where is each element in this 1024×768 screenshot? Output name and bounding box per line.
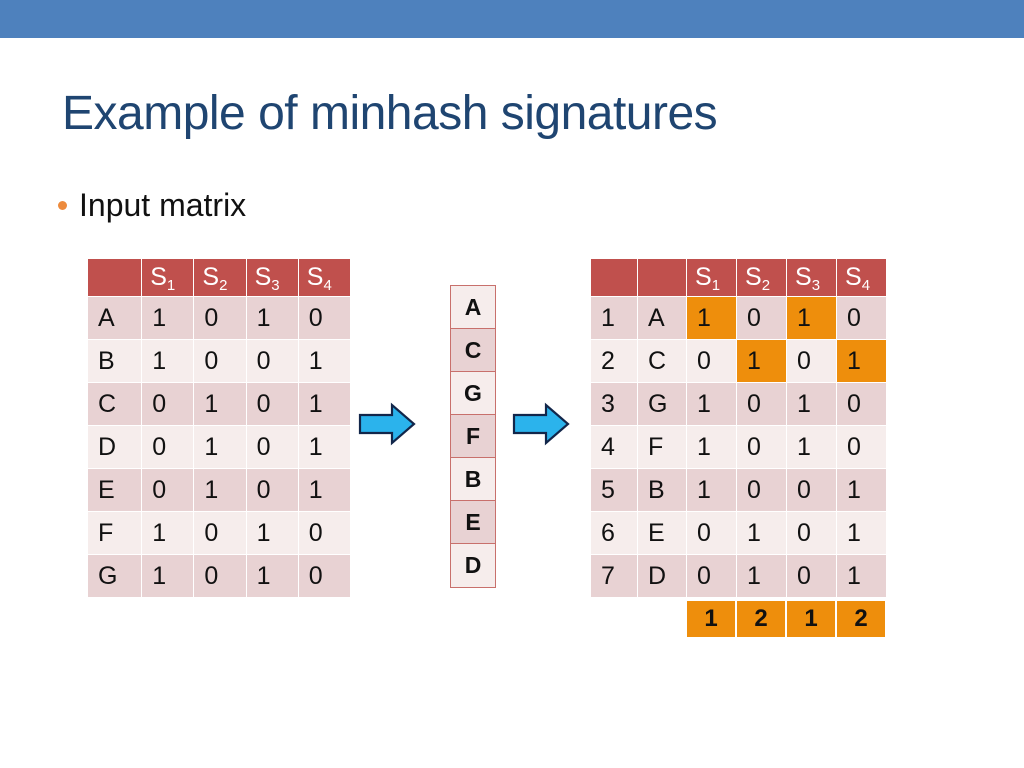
permutation-column: ACGFBED — [450, 285, 496, 588]
permuted-matrix-cell: 0 — [687, 555, 737, 598]
input-matrix-cell: 0 — [246, 469, 298, 512]
input-matrix-cell: 1 — [142, 555, 194, 598]
input-matrix-row-label: A — [88, 297, 142, 340]
permuted-matrix-table: S1S2S3S4 1A10102C01013G10104F10105B10016… — [590, 258, 887, 598]
permuted-matrix-row-label: F — [638, 426, 687, 469]
input-matrix-cell: 0 — [298, 297, 350, 340]
permutation-cell: D — [451, 544, 495, 587]
input-matrix-col-header-3: S3 — [246, 259, 298, 297]
input-matrix-cell: 1 — [298, 340, 350, 383]
permuted-matrix-col-header-3: S3 — [787, 259, 837, 297]
permuted-matrix-cell: 0 — [837, 426, 887, 469]
signature-cell: 1 — [686, 600, 736, 638]
input-matrix-cell: 1 — [194, 383, 246, 426]
input-matrix-cell: 0 — [246, 426, 298, 469]
table-row: E0101 — [88, 469, 351, 512]
table-row: 2C0101 — [591, 340, 887, 383]
permuted-matrix-col-header-2: S2 — [737, 259, 787, 297]
input-matrix-table: S1S2S3S4 A1010B1001C0101D0101E0101F1010G… — [87, 258, 351, 598]
input-matrix-cell: 1 — [194, 426, 246, 469]
permuted-matrix-cell: 1 — [687, 426, 737, 469]
signature-cell: 2 — [736, 600, 786, 638]
input-matrix-cell: 0 — [298, 512, 350, 555]
input-matrix-cell: 1 — [298, 426, 350, 469]
permuted-matrix-cell: 0 — [787, 340, 837, 383]
permutation-cell: E — [451, 501, 495, 544]
input-matrix-col-header-4: S4 — [298, 259, 350, 297]
permutation-cell: F — [451, 415, 495, 458]
input-matrix-corner-cell — [88, 259, 142, 297]
permuted-matrix-row-index: 4 — [591, 426, 638, 469]
bullet-label: Input matrix — [79, 186, 246, 224]
input-matrix-row-label: B — [88, 340, 142, 383]
input-matrix-cell: 1 — [298, 469, 350, 512]
permuted-matrix-row-index: 5 — [591, 469, 638, 512]
input-matrix-col-header-2: S2 — [194, 259, 246, 297]
permuted-matrix-cell: 1 — [687, 383, 737, 426]
bullet-input-matrix: Input matrix — [58, 186, 246, 224]
permuted-matrix-col-header-4: S4 — [837, 259, 887, 297]
permuted-matrix-cell: 0 — [837, 297, 887, 340]
permuted-matrix-row-label: D — [638, 555, 687, 598]
permuted-matrix-cell: 1 — [787, 383, 837, 426]
permuted-matrix-cell: 0 — [737, 383, 787, 426]
table-row: 6E0101 — [591, 512, 887, 555]
permuted-matrix-row-index: 6 — [591, 512, 638, 555]
input-matrix-cell: 1 — [298, 383, 350, 426]
table-row: 4F1010 — [591, 426, 887, 469]
permuted-matrix-cell: 0 — [687, 512, 737, 555]
table-row: G1010 — [88, 555, 351, 598]
permuted-matrix-cell-highlighted: 1 — [737, 340, 787, 383]
input-matrix-cell: 0 — [194, 340, 246, 383]
table-row: B1001 — [88, 340, 351, 383]
input-matrix-col-header-1: S1 — [142, 259, 194, 297]
permuted-matrix-row-index: 1 — [591, 297, 638, 340]
input-matrix-cell: 0 — [142, 383, 194, 426]
input-matrix-row-label: D — [88, 426, 142, 469]
permuted-matrix-cell: 1 — [687, 469, 737, 512]
permuted-matrix-corner-cell-label — [638, 259, 687, 297]
permuted-matrix-cell: 0 — [737, 297, 787, 340]
permuted-matrix-cell: 0 — [687, 340, 737, 383]
input-matrix-cell: 1 — [142, 297, 194, 340]
permuted-matrix-row-index: 3 — [591, 383, 638, 426]
input-matrix-header-row: S1S2S3S4 — [88, 259, 351, 297]
permuted-matrix-cell: 0 — [837, 383, 887, 426]
permuted-matrix-cell: 0 — [737, 426, 787, 469]
permuted-matrix-cell-highlighted: 1 — [787, 297, 837, 340]
input-matrix-cell: 0 — [142, 426, 194, 469]
permuted-matrix-row-index: 7 — [591, 555, 638, 598]
permuted-matrix-row-label: A — [638, 297, 687, 340]
input-matrix-cell: 0 — [194, 555, 246, 598]
input-matrix-cell: 1 — [246, 555, 298, 598]
bullet-dot-icon — [58, 201, 67, 210]
table-row: 1A1010 — [591, 297, 887, 340]
permutation-cell: G — [451, 372, 495, 415]
input-matrix-cell: 0 — [298, 555, 350, 598]
table-row: D0101 — [88, 426, 351, 469]
signature-cell: 2 — [836, 600, 886, 638]
permuted-matrix-cell-highlighted: 1 — [687, 297, 737, 340]
table-row: F1010 — [88, 512, 351, 555]
permuted-matrix-cell: 1 — [737, 512, 787, 555]
input-matrix-cell: 0 — [142, 469, 194, 512]
permuted-matrix-corner-cell-index — [591, 259, 638, 297]
arrow-right-icon-2 — [512, 402, 570, 446]
input-matrix-cell: 1 — [142, 340, 194, 383]
input-matrix-cell: 0 — [194, 512, 246, 555]
input-matrix-row-label: F — [88, 512, 142, 555]
permuted-matrix-row-index: 2 — [591, 340, 638, 383]
permuted-matrix-col-header-1: S1 — [687, 259, 737, 297]
table-row: 7D0101 — [591, 555, 887, 598]
input-matrix-row-label: C — [88, 383, 142, 426]
input-matrix-cell: 1 — [246, 297, 298, 340]
input-matrix-cell: 0 — [246, 383, 298, 426]
permuted-matrix-cell: 0 — [787, 555, 837, 598]
permutation-cell: C — [451, 329, 495, 372]
permuted-matrix-row-label: B — [638, 469, 687, 512]
page-title: Example of minhash signatures — [62, 86, 717, 142]
input-matrix-cell: 0 — [246, 340, 298, 383]
input-matrix-cell: 1 — [194, 469, 246, 512]
input-matrix-cell: 1 — [142, 512, 194, 555]
permuted-matrix-cell: 1 — [737, 555, 787, 598]
permuted-matrix-header-row: S1S2S3S4 — [591, 259, 887, 297]
input-matrix-row-label: E — [88, 469, 142, 512]
permuted-matrix-cell: 0 — [787, 512, 837, 555]
arrow-right-icon-1 — [358, 402, 416, 446]
permuted-matrix-row-label: G — [638, 383, 687, 426]
permuted-matrix-cell: 1 — [787, 426, 837, 469]
table-row: 5B1001 — [591, 469, 887, 512]
table-row: A1010 — [88, 297, 351, 340]
permuted-matrix-cell: 1 — [837, 512, 887, 555]
permuted-matrix-row-label: C — [638, 340, 687, 383]
table-row: 3G1010 — [591, 383, 887, 426]
permuted-matrix-row-label: E — [638, 512, 687, 555]
input-matrix-cell: 1 — [246, 512, 298, 555]
table-row: C0101 — [88, 383, 351, 426]
permutation-cell: A — [451, 286, 495, 329]
permuted-matrix-cell: 0 — [787, 469, 837, 512]
permuted-matrix-cell: 0 — [737, 469, 787, 512]
permutation-cell: B — [451, 458, 495, 501]
input-matrix-cell: 0 — [194, 297, 246, 340]
top-accent-band — [0, 0, 1024, 38]
signature-row: 1212 — [686, 600, 886, 638]
permuted-matrix-cell: 1 — [837, 469, 887, 512]
permuted-matrix-cell-highlighted: 1 — [837, 340, 887, 383]
signature-cell: 1 — [786, 600, 836, 638]
permuted-matrix-cell: 1 — [837, 555, 887, 598]
input-matrix-row-label: G — [88, 555, 142, 598]
